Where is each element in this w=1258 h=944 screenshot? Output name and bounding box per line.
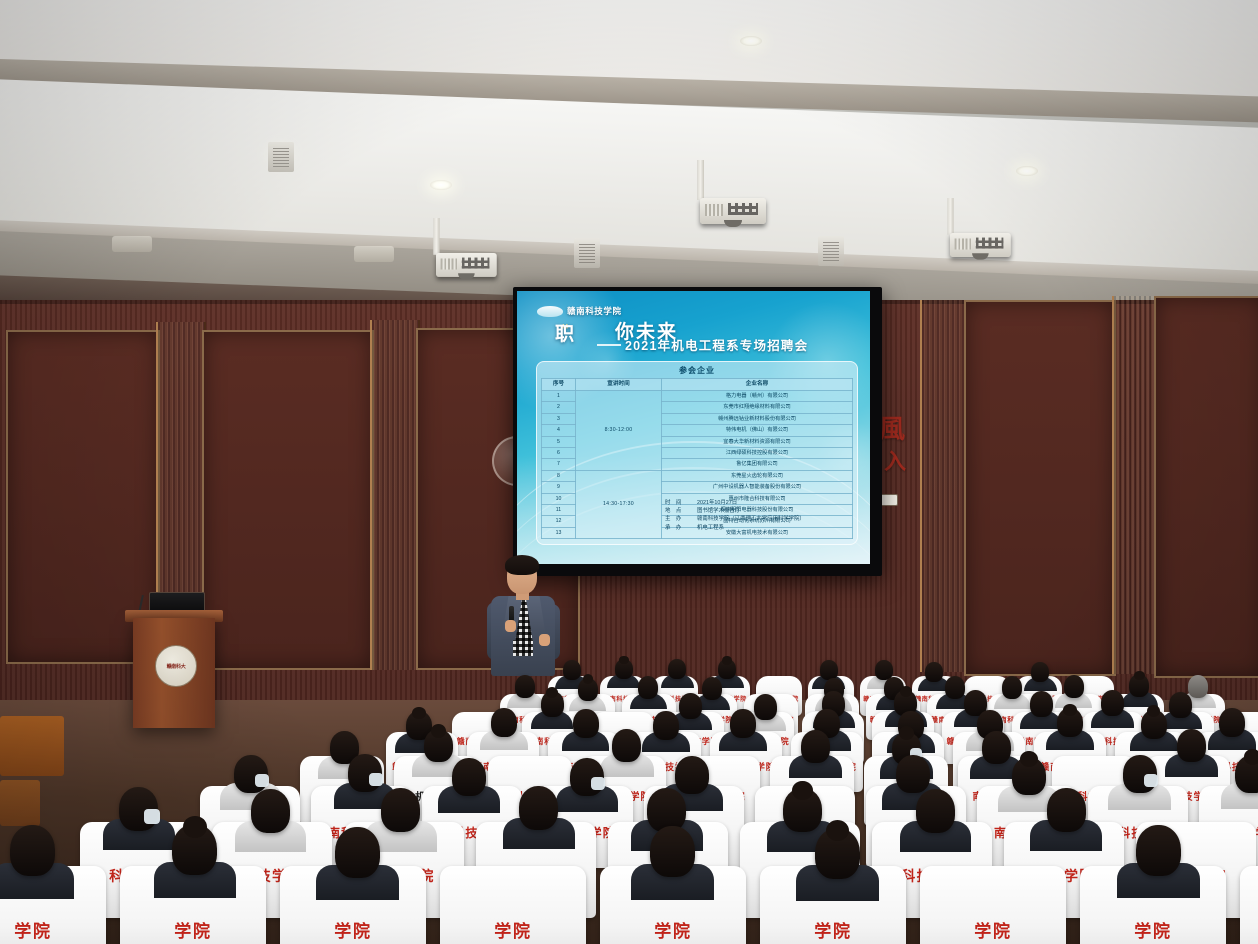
aisle-floor: [0, 716, 64, 776]
cell-time: 14:30-17:30: [576, 470, 662, 538]
slide-meta-value: 机电工程系: [697, 524, 724, 532]
table-row: 18:30-12:00格力电器（赣州）有限公司: [542, 391, 853, 402]
audience-member-head: [668, 659, 686, 679]
face-mask: [369, 773, 383, 786]
auditorium-photo: 風 入 赣南科技学院 “ 职 你未来 2021年机电工程系专场招聘会 参会企业: [0, 0, 1258, 944]
aisle-floor: [0, 780, 40, 826]
cell-no: 7: [542, 459, 576, 470]
cell-company: 特伟电机（佛山）有限公司: [662, 425, 853, 436]
audience-member-head: [679, 693, 702, 719]
ceiling: [0, 0, 1258, 300]
audience-member-head: [801, 730, 830, 763]
university-logo-icon: [537, 306, 563, 317]
slide-subtitle: 2021年机电工程系专场招聘会: [625, 335, 808, 354]
chair-cover-text: 学院: [1080, 917, 1226, 942]
cell-no: 3: [542, 413, 576, 424]
audience-member-head: [647, 788, 686, 832]
audience-member-head: [251, 789, 290, 833]
projection-screen-frame: 赣南科技学院 “ 职 你未来 2021年机电工程系专场招聘会 参会企业 序号 宣…: [513, 287, 882, 576]
col-header-no: 序号: [542, 379, 576, 391]
audience-member-head: [515, 675, 535, 698]
wall-panel: [964, 300, 1116, 676]
slide-meta-key: 地 点: [665, 507, 687, 515]
audience-member-head: [1030, 691, 1053, 717]
podium-emblem-text: 赣南科大: [167, 663, 186, 670]
audience-member-head: [675, 756, 709, 794]
face-mask: [255, 774, 269, 787]
audience-member-head: [519, 786, 558, 830]
cell-company: 东莞市红翔绝缘材料有限公司: [662, 402, 853, 413]
face-mask: [1144, 774, 1158, 787]
audience-member-head: [702, 677, 722, 700]
ceiling-speaker: [268, 142, 294, 172]
audience-member-head: [424, 729, 453, 762]
chair-cover-text: 学院: [600, 917, 746, 942]
audience-member-head: [815, 828, 860, 879]
audience-member-head: [1188, 675, 1208, 698]
slide-meta-value: 2021年10月27日: [697, 499, 737, 507]
downlight-icon: [430, 180, 452, 190]
cell-no: 2: [542, 402, 576, 413]
slide-meta-row: 承 办机电工程系: [665, 524, 805, 532]
cell-no: 4: [542, 425, 576, 436]
wall-panel: [1154, 296, 1258, 678]
chair-cover-text: 学院: [120, 917, 266, 942]
audience-member-head: [1012, 757, 1046, 795]
cell-no: 5: [542, 436, 576, 447]
cell-company: 广州中设机器人智能装备股份有限公司: [662, 482, 853, 493]
cell-no: 11: [542, 505, 576, 516]
cell-company: 宜春大华新材料资源有限公司: [662, 436, 853, 447]
audience-member-head: [578, 678, 598, 701]
audience-member-head: [563, 660, 581, 680]
audience-member-head: [1141, 710, 1167, 739]
chair-cover-text: 学院: [0, 917, 106, 942]
audience-member-head: [650, 826, 695, 877]
wall-calligraphy: 風: [879, 418, 905, 442]
slide-meta-key: 承 办: [665, 524, 687, 532]
chair-cover-text: 学院: [1240, 917, 1258, 942]
downlight-icon: [1016, 166, 1038, 176]
audience-member-head: [1002, 676, 1022, 699]
slide-meta-row: 主 办赣南科技学院（江西理工大学应用科学学院）: [665, 515, 805, 523]
cell-time: 8:30-12:00: [576, 391, 662, 471]
cell-no: 9: [542, 482, 576, 493]
col-header-company: 企业名称: [662, 379, 853, 391]
audience-member-head: [10, 825, 55, 876]
audience-member-head: [982, 731, 1011, 764]
audience-member-head: [718, 659, 736, 679]
seat-chair: 学院: [920, 866, 1066, 944]
chair-cover-text: 学院: [440, 917, 586, 942]
projection-screen: 赣南科技学院 “ 职 你未来 2021年机电工程系专场招聘会 参会企业 序号 宣…: [517, 291, 870, 564]
audience-member-head: [381, 788, 420, 832]
audience-member-head: [653, 711, 679, 740]
audience-member-head: [612, 729, 641, 762]
audience-member-head: [1031, 662, 1049, 682]
audience-member-head: [1101, 690, 1124, 716]
audience-member-head: [896, 755, 930, 793]
audience-member-head: [820, 660, 838, 680]
cell-no: 13: [542, 527, 576, 538]
audience-member-head: [491, 708, 517, 737]
seat-chair: 学院: [440, 866, 586, 944]
presenter-hair: [505, 555, 539, 575]
slide-title-highlight: 职: [555, 319, 576, 346]
wall-pillar: [1112, 296, 1158, 674]
slide-meta-value: 图书馆学术报告厅: [697, 507, 740, 515]
cell-company: 赣州腾远钴业新材料股份有限公司: [662, 413, 853, 424]
audience-member-head: [754, 694, 777, 720]
slide-title-rule: [597, 344, 621, 346]
cell-no: 12: [542, 516, 576, 527]
wall-calligraphy: 入: [884, 452, 906, 472]
ceiling-speaker: [574, 238, 600, 268]
chair-cover-text: 学院: [280, 917, 426, 942]
slide-logo-text: 赣南科技学院: [567, 305, 622, 317]
audience-member-head: [335, 827, 380, 878]
chair-cover-text: 学院: [760, 917, 906, 942]
audience-member-head: [573, 709, 599, 738]
col-header-time: 宣讲时间: [576, 379, 662, 391]
presenter: [487, 558, 561, 678]
cell-no: 1: [542, 391, 576, 402]
audience-member-head: [172, 824, 217, 875]
face-mask: [144, 809, 160, 824]
slide-meta-row: 地 点图书馆学术报告厅: [665, 507, 805, 515]
audience-member-head: [916, 789, 955, 833]
slide-table-caption: 参会企业: [541, 365, 853, 376]
audience-member-head: [615, 659, 633, 679]
audience-member-head: [945, 676, 965, 699]
ceiling-speaker: [818, 236, 844, 266]
audience-member-head: [783, 788, 822, 832]
audience-member-head: [1064, 675, 1084, 698]
audience-member-head: [1047, 788, 1086, 832]
audience-member-head: [1129, 674, 1149, 697]
ceiling-vent: [112, 236, 152, 252]
audience-member-head: [452, 758, 486, 796]
audience-member-head: [541, 691, 564, 717]
table-header-row: 序号 宣讲时间 企业名称: [542, 379, 853, 391]
chair-cover-text: 学院: [920, 917, 1066, 942]
audience-member-head: [1219, 708, 1245, 737]
seat-chair: 学院: [1240, 866, 1258, 944]
cell-no: 6: [542, 448, 576, 459]
slide-meta-key: 时 间: [665, 499, 687, 507]
cell-company: 鲁亿集团有限公司: [662, 459, 853, 470]
audience-member-head: [730, 709, 756, 738]
slide-logo: 赣南科技学院: [537, 305, 622, 317]
audience-member-head: [1177, 729, 1206, 762]
podium-emblem: 赣南科大: [155, 645, 197, 687]
audience-member-head: [638, 676, 658, 699]
cell-no: 10: [542, 493, 576, 504]
audience-member-head: [1235, 755, 1258, 793]
slide-meta-block: 时 间2021年10月27日地 点图书馆学术报告厅主 办赣南科技学院（江西理工大…: [665, 499, 805, 532]
downlight-icon: [740, 36, 762, 46]
wall-pillar: [370, 320, 420, 670]
cell-company: 江西绿硕科技控股有限公司: [662, 448, 853, 459]
audience-member-head: [1057, 708, 1083, 737]
wall-pillar: [920, 300, 968, 672]
table-row: 814:30-17:30东莞星火齿轮有限公司: [542, 470, 853, 481]
face-mask: [591, 777, 605, 790]
ceiling-vent: [354, 246, 394, 262]
cell-company: 格力电器（赣州）有限公司: [662, 391, 853, 402]
slide-meta-value: 赣南科技学院（江西理工大学应用科学学院）: [697, 515, 805, 523]
audience-member-head: [925, 662, 943, 682]
cell-company: 东莞星火齿轮有限公司: [662, 470, 853, 481]
cell-no: 8: [542, 470, 576, 481]
wall-panel: [202, 330, 374, 670]
audience-member-head: [1136, 825, 1181, 876]
slide-meta-row: 时 间2021年10月27日: [665, 499, 805, 507]
audience-member-head: [1169, 692, 1192, 718]
slide-meta-key: 主 办: [665, 515, 687, 523]
